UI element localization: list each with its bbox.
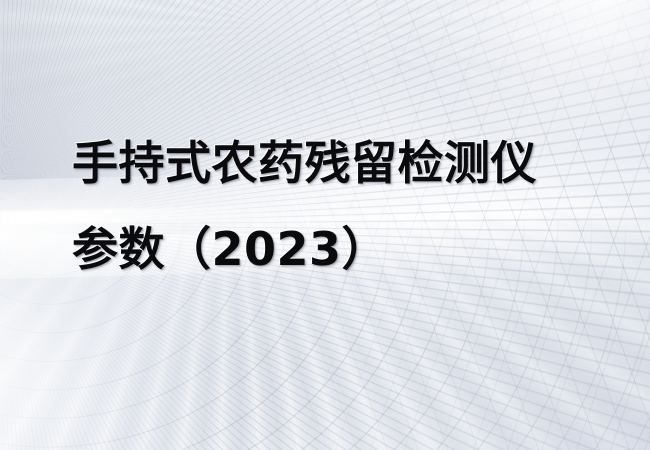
title-banner: 手持式农药残留检测仪 参数（2023） — [0, 0, 650, 450]
title-block: 手持式农药残留检测仪 参数（2023） — [72, 120, 592, 292]
title-line-2: 参数（2023） — [72, 206, 592, 292]
title-line-1: 手持式农药残留检测仪 — [72, 120, 592, 206]
